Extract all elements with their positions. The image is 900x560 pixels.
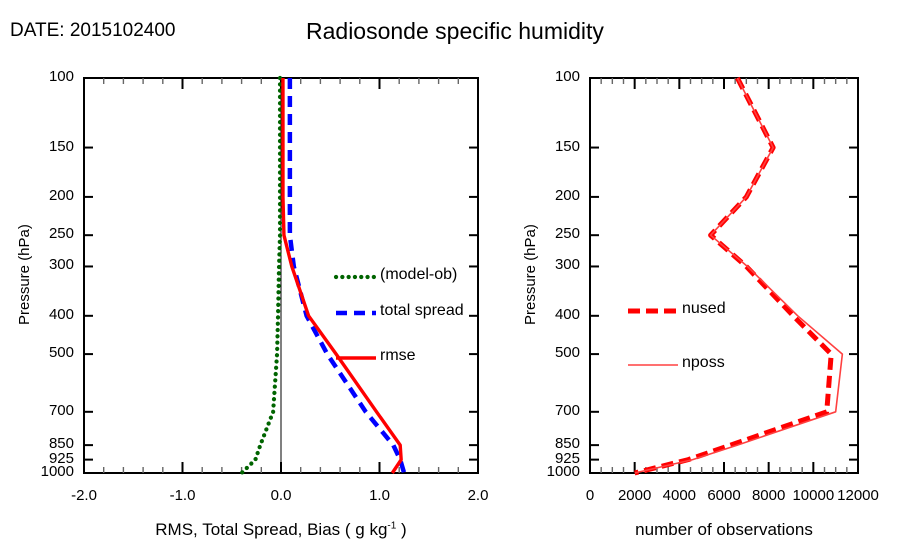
left-legend-label-0: (model-ob) (380, 266, 457, 284)
left-ytick-label-1000: 1000 (28, 463, 74, 480)
left-xtick-label-1: 1.0 (369, 487, 390, 504)
right-ytick-label-300: 300 (534, 256, 580, 273)
right-ytick-label-200: 200 (534, 187, 580, 204)
right-ytick-label-400: 400 (534, 306, 580, 323)
right-xtick-label-10000: 10000 (792, 487, 834, 504)
left-ytick-label-300: 300 (28, 256, 74, 273)
right-xtick-label-2000: 2000 (618, 487, 651, 504)
left-xtick-label-2: 2.0 (468, 487, 489, 504)
figure-canvas: DATE: 2015102400 Radiosonde specific hum… (0, 0, 900, 560)
left-ytick-label-400: 400 (28, 306, 74, 323)
right-xtick-label-12000: 12000 (837, 487, 879, 504)
right-series-nused (635, 78, 832, 473)
right-xtick-label-0: 0 (586, 487, 594, 504)
right-ytick-label-100: 100 (534, 68, 580, 85)
left-ytick-label-100: 100 (28, 68, 74, 85)
left-ytick-label-150: 150 (28, 138, 74, 155)
right-legend-label-0: nused (682, 300, 726, 318)
right-xtick-label-8000: 8000 (752, 487, 785, 504)
left-xtick-label-0: 0.0 (271, 487, 292, 504)
left-xtick-label--2: -2.0 (71, 487, 97, 504)
left-ytick-label-250: 250 (28, 225, 74, 242)
right-ytick-label-150: 150 (534, 138, 580, 155)
right-ytick-label-1000: 1000 (534, 463, 580, 480)
left-series-modelob (242, 78, 280, 473)
right-xtick-label-4000: 4000 (663, 487, 696, 504)
left-ytick-label-700: 700 (28, 402, 74, 419)
left-legend-label-2: rmse (380, 347, 416, 365)
right-ytick-label-500: 500 (534, 344, 580, 361)
right-ytick-label-250: 250 (534, 225, 580, 242)
left-legend-label-1: total spread (380, 302, 464, 320)
left-ytick-label-500: 500 (28, 344, 74, 361)
right-legend-label-1: nposs (682, 354, 725, 372)
left-ytick-label-200: 200 (28, 187, 74, 204)
right-series-nposs (635, 78, 843, 473)
right-xtick-label-6000: 6000 (707, 487, 740, 504)
right-ytick-label-700: 700 (534, 402, 580, 419)
left-xtick-label--1: -1.0 (170, 487, 196, 504)
